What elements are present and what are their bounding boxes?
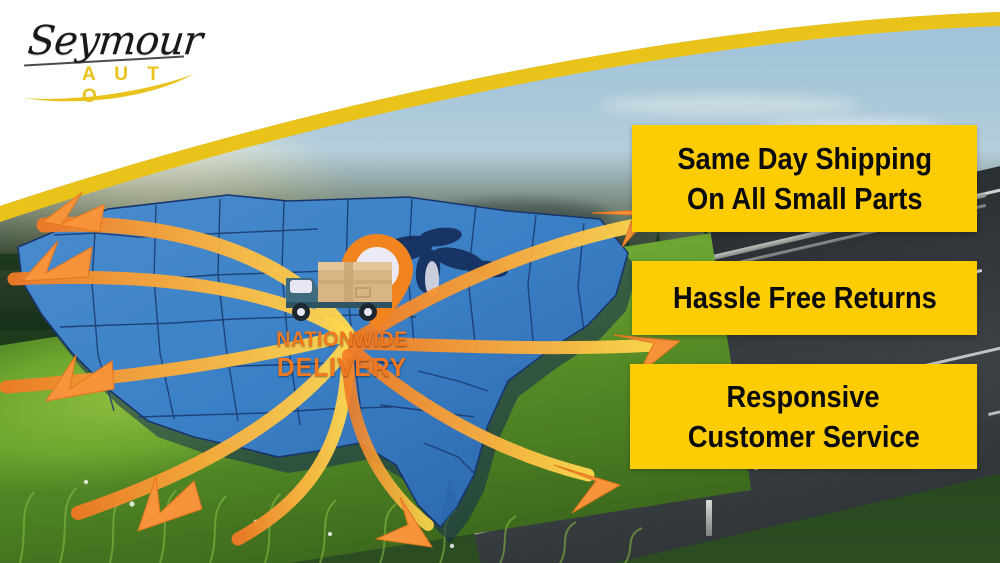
brand-logo[interactable]: Seymour A U T O: [18, 14, 198, 104]
feature-line-2: Customer Service: [688, 417, 920, 457]
cloud: [600, 95, 860, 115]
nationwide-delivery-badge: NATIONWIDE DELIVERY: [262, 228, 422, 378]
delivery-truck-icon: [282, 258, 398, 324]
feature-line-1: Hassle Free Returns: [673, 278, 937, 318]
feature-line-1: Same Day Shipping: [677, 139, 932, 179]
feature-box-hassle-free-returns[interactable]: Hassle Free Returns: [632, 261, 977, 335]
badge-line-1: NATIONWIDE: [266, 328, 418, 352]
feature-box-responsive-customer-service[interactable]: Responsive Customer Service: [630, 364, 977, 469]
feature-line-1: Responsive: [727, 377, 880, 417]
promo-banner: Seymour A U T O: [0, 0, 1000, 563]
feature-box-same-day-shipping[interactable]: Same Day Shipping On All Small Parts: [632, 125, 977, 232]
feature-line-2: On All Small Parts: [687, 179, 922, 219]
logo-sub-wordmark: A U T O: [82, 64, 198, 108]
badge-line-2: DELIVERY: [266, 352, 418, 383]
